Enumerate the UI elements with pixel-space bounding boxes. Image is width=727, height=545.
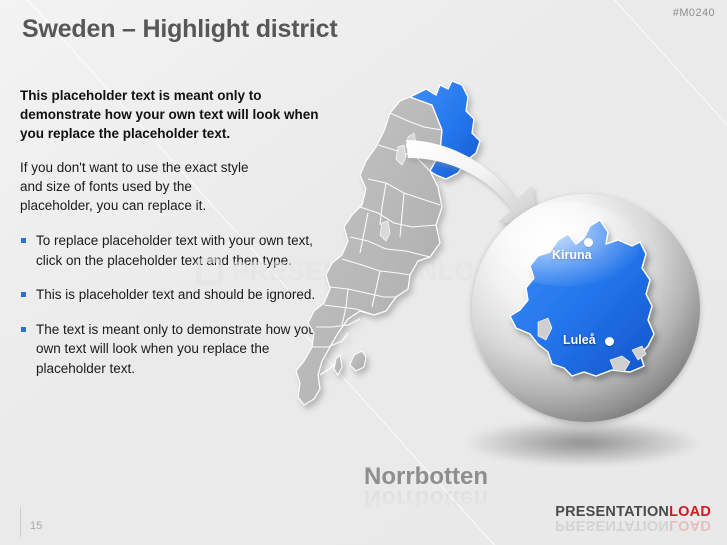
page-number: 15 <box>30 520 42 532</box>
lead-paragraph: This placeholder text is meant only to d… <box>20 86 332 143</box>
template-code: #M0240 <box>673 7 715 19</box>
brand-logo-reflection: PRESENTATIONLOAD <box>555 517 711 533</box>
list-item: To replace placeholder text with your ow… <box>20 231 332 270</box>
magnified-norrbotten-svg <box>472 194 700 422</box>
brand-primary-reflection: PRESENTATION <box>555 517 669 533</box>
bullet-list: To replace placeholder text with your ow… <box>20 231 332 378</box>
norrbotten-magnified-shape <box>510 220 654 376</box>
body-paragraph: If you don't want to use the exact style… <box>20 158 265 215</box>
lulea-city-dot <box>605 337 614 346</box>
lulea-city-label: Luleå <box>563 333 596 347</box>
page-title: Sweden – Highlight district <box>22 15 337 44</box>
list-item-text: The text is meant only to demonstrate ho… <box>36 322 320 376</box>
sphere-shadow <box>468 420 698 466</box>
magnified-region-body <box>510 220 654 376</box>
bullet-square-icon <box>21 327 26 332</box>
kiruna-city-dot <box>584 238 593 247</box>
footer-divider <box>20 507 21 537</box>
magnified-region-sphere[interactable]: Kiruna Luleå <box>472 194 700 422</box>
list-item: This is placeholder text and should be i… <box>20 285 332 305</box>
gotland-island-shape <box>350 351 366 371</box>
text-column: This placeholder text is meant only to d… <box>20 86 332 393</box>
brand-accent-reflection: LOAD <box>669 517 711 533</box>
list-item-text: To replace placeholder text with your ow… <box>36 233 313 268</box>
list-item-text: This is placeholder text and should be i… <box>36 287 315 302</box>
brand-logo: PRESENTATIONLOAD PRESENTATIONLOAD <box>555 504 711 533</box>
oland-island-shape <box>334 355 342 375</box>
bullet-square-icon <box>21 292 26 297</box>
list-item: The text is meant only to demonstrate ho… <box>20 320 332 379</box>
bullet-square-icon <box>21 238 26 243</box>
slide: Sweden – Highlight district #M0240 This … <box>0 0 727 545</box>
kiruna-city-label: Kiruna <box>552 248 592 262</box>
